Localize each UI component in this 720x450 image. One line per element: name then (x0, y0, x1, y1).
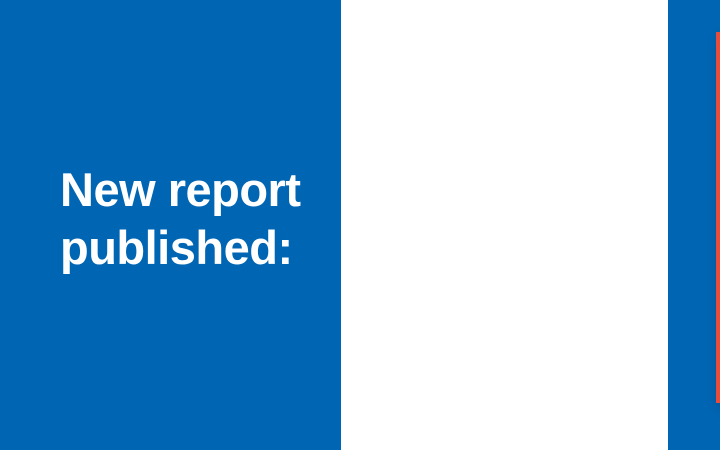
headline-panel: New report published: (0, 0, 341, 450)
cover-accent-band (716, 32, 720, 403)
promo-banner: New report published: Scottish Governmen… (0, 0, 720, 450)
page-title: New report published: (60, 161, 330, 277)
headline-line-1: New report (60, 161, 330, 219)
headline-line-2: published: (60, 219, 330, 277)
cover-stage-panel: Scottish Government Riaghaltas na h-Alba… (341, 0, 668, 450)
report-cover: Scottish Government Riaghaltas na h-Alba… (716, 32, 720, 403)
